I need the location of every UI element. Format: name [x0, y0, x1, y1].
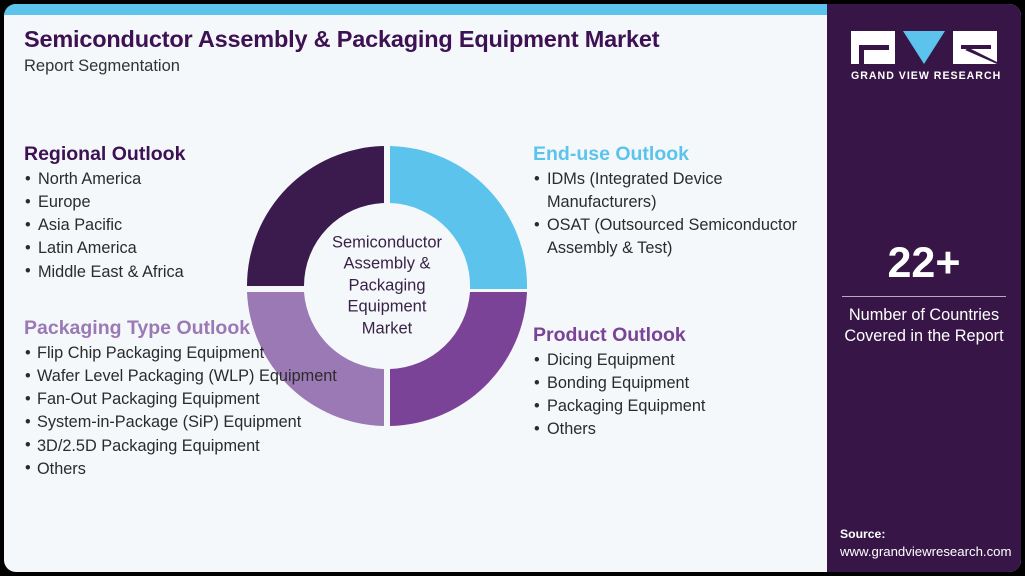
source-label: Source:	[840, 527, 1020, 543]
packaging-type-outlook-list: Flip Chip Packaging Equipment Wafer Leve…	[24, 342, 354, 481]
stat-label-line2: Covered in the Report	[827, 326, 1021, 347]
list-item: Others	[24, 458, 354, 481]
donut-center-line-1: Semiconductor	[302, 232, 472, 253]
list-item: Dicing Equipment	[533, 349, 823, 372]
list-item: Others	[533, 418, 823, 441]
product-outlook-block: Product Outlook Dicing Equipment Bonding…	[533, 324, 823, 442]
enduse-outlook-heading: End-use Outlook	[533, 143, 833, 166]
list-item: North America	[24, 168, 254, 191]
regional-outlook-list: North America Europe Asia Pacific Latin …	[24, 168, 254, 284]
list-item: System-in-Package (SiP) Equipment	[24, 411, 354, 434]
gvr-logo-text: GRAND VIEW RESEARCH	[851, 70, 997, 82]
side-panel: GRAND VIEW RESEARCH 22+ Number of Countr…	[827, 4, 1021, 572]
list-item: OSAT (Outsourced Semiconductor Assembly …	[533, 214, 833, 260]
page-subtitle: Report Segmentation	[24, 57, 814, 76]
list-item: Fan-Out Packaging Equipment	[24, 388, 354, 411]
stat-divider	[842, 296, 1006, 297]
donut-center-line-3: Packaging	[302, 275, 472, 296]
list-item: Wafer Level Packaging (WLP) Equipment	[24, 365, 354, 388]
stat-label: Number of Countries Covered in the Repor…	[827, 305, 1021, 346]
grand-view-research-logo: GRAND VIEW RESEARCH	[851, 31, 997, 82]
regional-outlook-block: Regional Outlook North America Europe As…	[24, 143, 254, 284]
stat-number: 22+	[827, 242, 1021, 285]
list-item: Asia Pacific	[24, 214, 254, 237]
enduse-outlook-list: IDMs (Integrated Device Manufacturers) O…	[533, 168, 833, 261]
donut-center-line-2: Assembly &	[302, 254, 472, 275]
donut-center-line-4: Equipment	[302, 297, 472, 318]
list-item: Bonding Equipment	[533, 372, 823, 395]
main-card: Semiconductor Assembly & Packaging Equip…	[4, 4, 1021, 572]
source-url: www.grandviewresearch.com	[840, 543, 1020, 560]
country-count-stat: 22+ Number of Countries Covered in the R…	[827, 242, 1021, 346]
header: Semiconductor Assembly & Packaging Equip…	[24, 26, 814, 76]
list-item: 3D/2.5D Packaging Equipment	[24, 435, 354, 458]
product-outlook-heading: Product Outlook	[533, 324, 823, 347]
source-block: Source: www.grandviewresearch.com	[840, 527, 1020, 560]
stat-label-line1: Number of Countries	[827, 305, 1021, 326]
packaging-type-outlook-heading: Packaging Type Outlook	[24, 317, 354, 340]
gvr-logo-icon	[851, 31, 997, 64]
enduse-outlook-block: End-use Outlook IDMs (Integrated Device …	[533, 143, 833, 261]
packaging-type-outlook-block: Packaging Type Outlook Flip Chip Packagi…	[24, 317, 354, 481]
list-item: Latin America	[24, 237, 254, 260]
list-item: Packaging Equipment	[533, 395, 823, 418]
regional-outlook-heading: Regional Outlook	[24, 143, 254, 166]
product-outlook-list: Dicing Equipment Bonding Equipment Packa…	[533, 349, 823, 442]
list-item: Middle East & Africa	[24, 261, 254, 284]
page-title: Semiconductor Assembly & Packaging Equip…	[24, 26, 814, 52]
list-item: IDMs (Integrated Device Manufacturers)	[533, 168, 833, 214]
infographic-root: Semiconductor Assembly & Packaging Equip…	[0, 0, 1025, 576]
list-item: Europe	[24, 191, 254, 214]
top-accent-bar	[4, 4, 827, 15]
list-item: Flip Chip Packaging Equipment	[24, 342, 354, 365]
